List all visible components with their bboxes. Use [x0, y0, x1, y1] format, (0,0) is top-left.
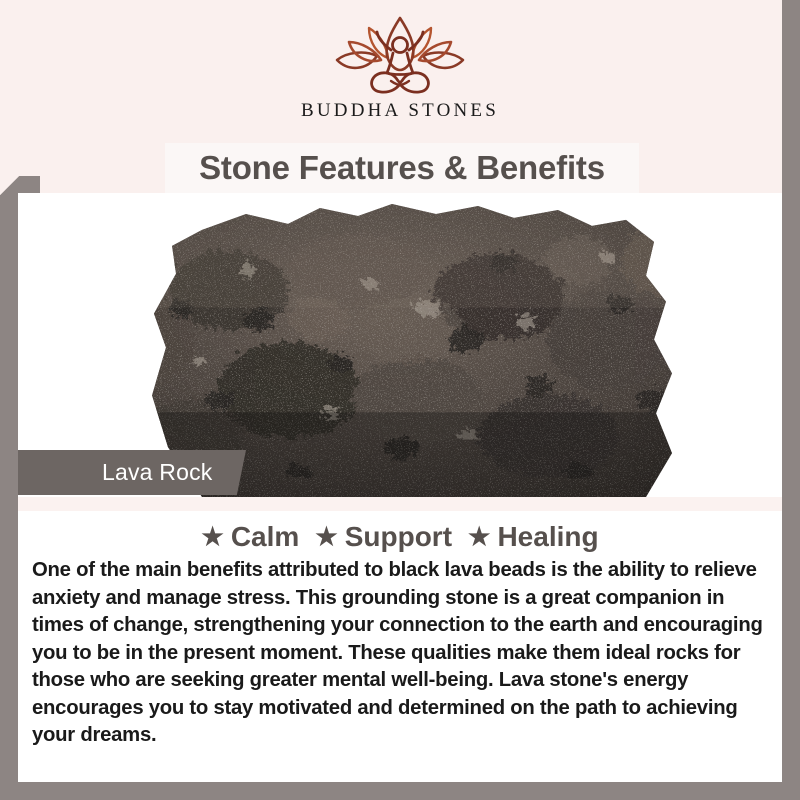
feature-tags-row: ★ Calm ★ Support ★ Healing: [18, 511, 782, 553]
feature-label-healing: Healing: [497, 521, 598, 553]
photo-panel: Lava Rock: [18, 193, 782, 497]
star-icon: ★: [201, 525, 223, 550]
feature-tag-calm: ★ Calm: [201, 521, 299, 553]
stone-name-text: Lava Rock: [18, 459, 212, 486]
star-icon: ★: [315, 525, 337, 550]
feature-tag-support: ★ Support: [315, 521, 452, 553]
feature-label-support: Support: [345, 521, 452, 553]
brand-header: BUDDHA STONES: [18, 0, 782, 143]
frame-band-bottom: [0, 782, 782, 800]
stone-name-label: Lava Rock: [18, 450, 246, 495]
feature-tag-healing: ★ Healing: [468, 521, 599, 553]
frame-band-right: [782, 0, 800, 586]
benefits-panel: ★ Calm ★ Support ★ Healing One of the ma…: [18, 511, 782, 782]
benefits-description: One of the main benefits attributed to b…: [32, 557, 770, 750]
lotus-meditation-figure-icon: [325, 14, 475, 98]
section-divider-strip: [18, 497, 782, 511]
brand-name: BUDDHA STONES: [301, 100, 499, 122]
star-icon: ★: [468, 525, 490, 550]
feature-label-calm: Calm: [231, 521, 299, 553]
title-banner: Stone Features & Benefits: [165, 143, 639, 193]
frame-band-left: [0, 195, 18, 800]
page-title: Stone Features & Benefits: [199, 149, 605, 187]
infographic-card: BUDDHA STONES Stone Features & Benefits: [0, 0, 800, 800]
